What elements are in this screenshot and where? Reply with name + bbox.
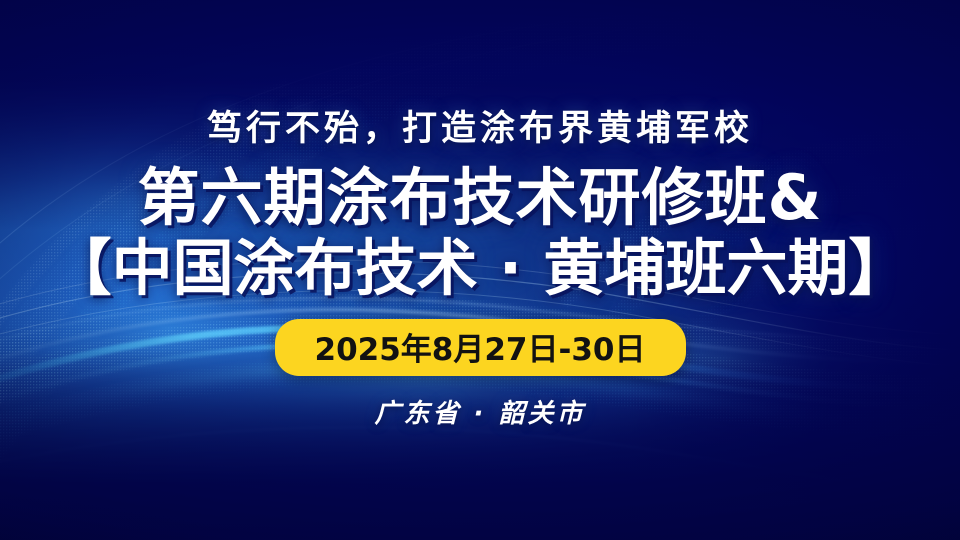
poster-content: 笃行不殆，打造涂布界黄埔军校 第六期涂布技术研修班& 【中国涂布技术 · 黄埔班… (0, 0, 960, 540)
event-date-badge: 2025年8月27日-30日 (275, 319, 686, 376)
event-location: 广东省 · 韶关市 (375, 393, 586, 430)
poster-title-block: 第六期涂布技术研修班& 【中国涂布技术 · 黄埔班六期】 (51, 165, 910, 301)
event-poster: 笃行不殆，打造涂布界黄埔军校 第六期涂布技术研修班& 【中国涂布技术 · 黄埔班… (0, 0, 960, 540)
poster-title-line-2: 【中国涂布技术 · 黄埔班六期】 (51, 237, 910, 302)
poster-tagline: 笃行不殆，打造涂布界黄埔军校 (207, 100, 753, 151)
poster-title-line-1: 第六期涂布技术研修班& (137, 165, 822, 231)
